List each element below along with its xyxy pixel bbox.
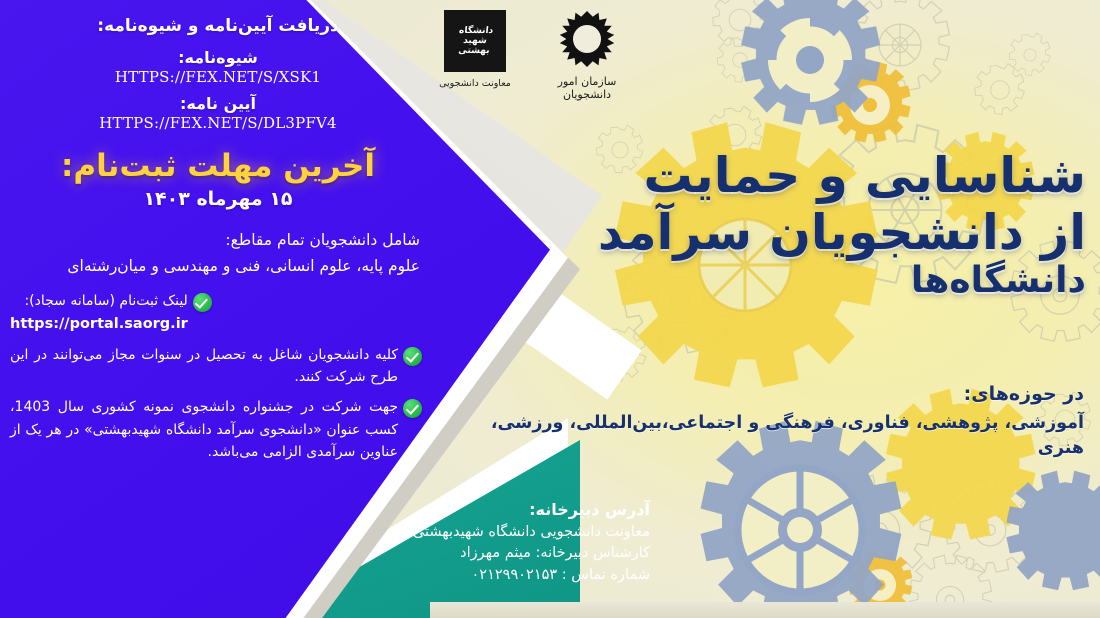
secretariat-line-1: معاونت دانشجویی دانشگاه شهیدبهشتی (300, 522, 650, 543)
deadline-date: ۱۵ مهرماه ۱۴۰۳ (10, 188, 426, 210)
levels-header: شامل دانشجویان تمام مقاطع: (10, 228, 420, 252)
sao-caption-line-2: دانشجویان (531, 89, 643, 102)
check-circle-icon (193, 293, 212, 312)
list-item: لینک ثبت‌نام (سامانه سجاد): https://port… (10, 290, 422, 337)
bullet-2-text: کلیه دانشجویان شاغل به تحصیل در سنوات مج… (10, 344, 398, 389)
method-label: شیوه‌نامه: (10, 48, 426, 67)
page-title: شناسایی و حمایت از دانشجویان سرآمد دانشگ… (526, 150, 1086, 301)
title-line-3: دانشگاه‌ها (526, 262, 1086, 301)
sbu-logo: دانشگاه شهید بهشتی معاونت دانشجویی (423, 10, 527, 89)
list-item: کلیه دانشجویان شاغل به تحصیل در سنوات مج… (10, 344, 422, 389)
fields-header: در حوزه‌های: (444, 383, 1084, 405)
sbu-emblem-icon: دانشگاه شهید بهشتی (444, 10, 506, 72)
check-circle-icon (403, 347, 422, 366)
poster-canvas: دریافت آیین‌نامه و شیوه‌نامه: شیوه‌نامه:… (0, 0, 1100, 618)
logo-row: دانشگاه شهید بهشتی معاونت دانشجویی سازما… (423, 6, 653, 112)
list-item: جهت شرکت در جشنواره دانشجوی نمونه کشوری … (10, 396, 422, 464)
title-line-2: از دانشجویان سرآمد (526, 207, 1086, 260)
regulation-label: آیین نامه: (10, 94, 426, 113)
check-circle-icon (403, 399, 422, 418)
bullet-3-text: جهت شرکت در جشنواره دانشجوی نمونه کشوری … (10, 396, 398, 464)
fields-section: در حوزه‌های: آموزشی، پژوهشی، فناوری، فره… (444, 383, 1084, 460)
sbu-mark-line-2: شهید (463, 37, 488, 46)
bullet-1-text: لینک ثبت‌نام (سامانه سجاد): (24, 293, 187, 309)
sao-logo: سازمان امور دانشجویان (531, 6, 643, 101)
levels-body: علوم پایه، علوم انسانی، فنی و مهندسی و م… (10, 254, 420, 278)
registration-url[interactable]: https://portal.saorg.ir (10, 313, 188, 336)
sbu-logo-caption: معاونت دانشجویی (423, 78, 527, 89)
sao-emblem-icon (551, 6, 623, 72)
sbu-mark-line-3: بهشتی (458, 47, 490, 56)
sao-caption-line-1: سازمان امور (531, 76, 643, 89)
secretariat-block: آدرس دبیرخانه: معاونت دانشجویی دانشگاه ش… (300, 500, 650, 586)
method-url[interactable]: HTTPS://FEX.NET/S/XSK1 (10, 68, 426, 86)
sbu-mark-line-1: دانشگاه (458, 27, 493, 36)
secretariat-phone: شماره تماس : ۰۲۱۲۹۹۰۲۱۵۳ (300, 565, 650, 586)
secretariat-title: آدرس دبیرخانه: (300, 500, 650, 519)
download-header: دریافت آیین‌نامه و شیوه‌نامه: (10, 14, 426, 40)
deadline-title: آخرین مهلت ثبت‌نام: (10, 148, 426, 184)
bottom-cream-strip (430, 602, 1100, 618)
fields-body: آموزشی، پژوهشی، فناوری، فرهنگی و اجتماعی… (444, 411, 1084, 460)
title-line-1: شناسایی و حمایت (526, 150, 1086, 203)
regulation-url[interactable]: HTTPS://FEX.NET/S/DL3PFV4 (10, 114, 426, 132)
secretariat-line-2: کارشناس دبیرخانه: میثم مهرزاد (300, 543, 650, 564)
